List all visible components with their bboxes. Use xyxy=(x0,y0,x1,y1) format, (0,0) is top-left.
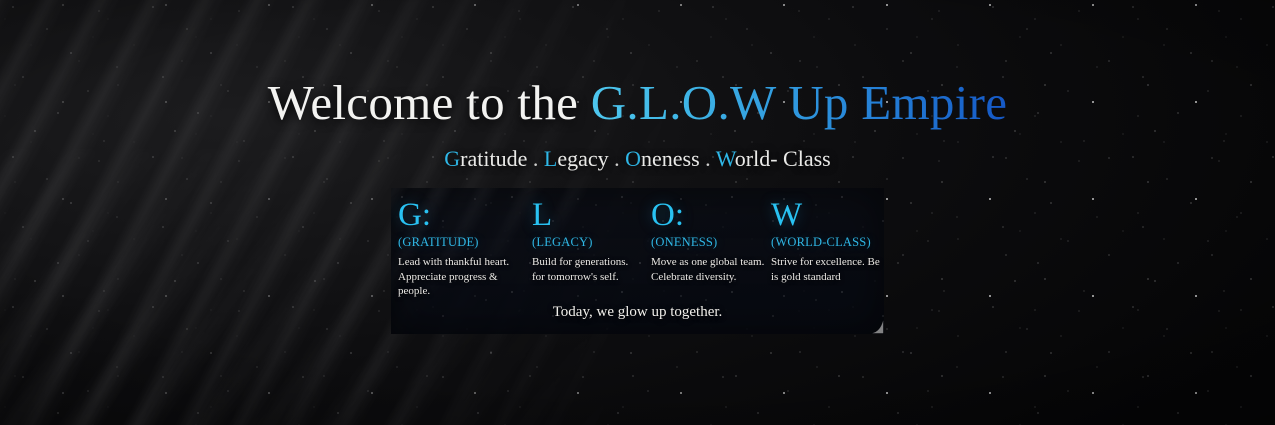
page-title: Welcome to the G.L.O.W Up Empire xyxy=(0,78,1275,127)
page-subtitle: Gratitude . Legacy . Oneness . World- Cl… xyxy=(0,148,1275,170)
subtitle-word: ratitude xyxy=(460,146,527,171)
value-column-world-class: W (WORLD-CLASS) Strive for excellence. B… xyxy=(771,198,883,284)
value-letter: W xyxy=(771,198,883,233)
value-column-gratitude: G: (GRATITUDE) Lead with thankful heart.… xyxy=(398,198,526,299)
subtitle-separator: . xyxy=(609,146,626,171)
value-column-oneness: O: (ONENESS) Move as one global team. Ce… xyxy=(651,198,771,284)
subtitle-separator: . xyxy=(700,146,716,171)
value-letter: G: xyxy=(398,198,526,233)
subtitle-initial: O xyxy=(625,146,641,171)
value-description: Move as one global team. Celebrate diver… xyxy=(651,255,771,284)
subtitle-word: orld- Class xyxy=(735,146,831,171)
page-title-accent: G.L.O.W Up Empire xyxy=(591,75,1008,130)
subtitle-initial: G xyxy=(444,146,460,171)
subtitle-separator: . xyxy=(527,146,544,171)
hero-banner: Welcome to the G.L.O.W Up Empire Gratitu… xyxy=(0,0,1275,425)
subtitle-initial: W xyxy=(716,146,735,171)
value-column-legacy: L (LEGACY) Build for generations. for to… xyxy=(532,198,642,284)
subtitle-initial: L xyxy=(544,146,557,171)
value-description: Build for generations. for tomorrow's se… xyxy=(532,255,642,284)
value-label: (LEGACY) xyxy=(532,236,642,250)
value-letter: L xyxy=(532,198,642,233)
page-title-plain: Welcome to the xyxy=(268,75,591,130)
value-label: (WORLD-CLASS) xyxy=(771,236,883,250)
subtitle-word: neness xyxy=(641,146,700,171)
value-label: (GRATITUDE) xyxy=(398,236,526,250)
subtitle-word: egacy xyxy=(557,146,608,171)
values-card-footer: Today, we glow up together. xyxy=(391,305,884,320)
values-card: G: (GRATITUDE) Lead with thankful heart.… xyxy=(391,188,884,334)
resize-handle-icon[interactable] xyxy=(869,319,884,334)
value-description: Strive for excellence. Be is gold standa… xyxy=(771,255,883,284)
value-description: Lead with thankful heart. Appreciate pro… xyxy=(398,255,526,299)
value-label: (ONENESS) xyxy=(651,236,771,250)
value-letter: O: xyxy=(651,198,771,233)
